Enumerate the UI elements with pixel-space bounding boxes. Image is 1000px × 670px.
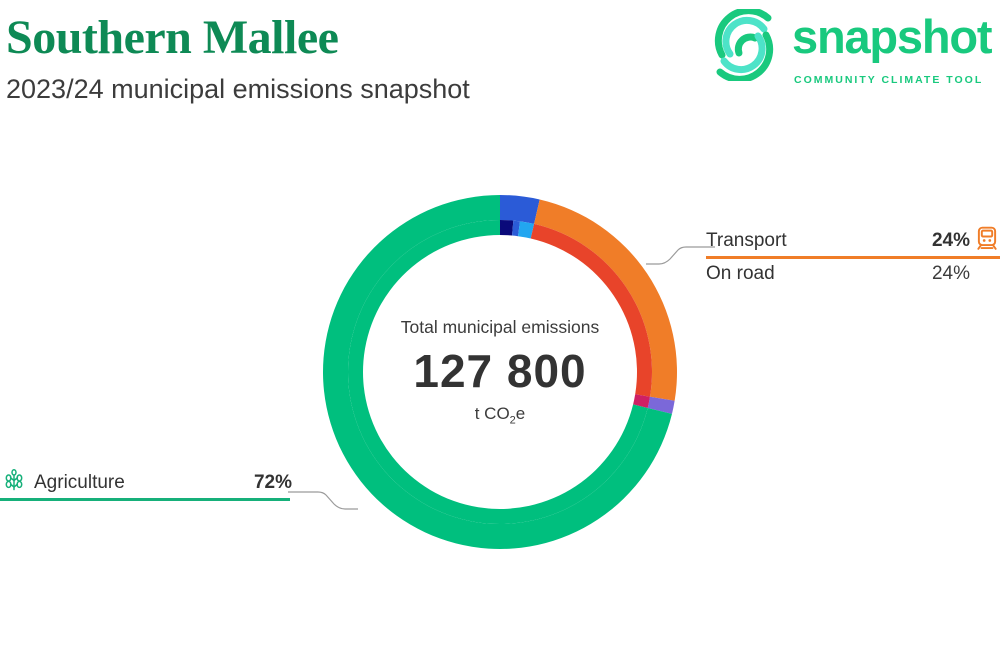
page-subtitle: 2023/24 municipal emissions snapshot (6, 72, 470, 106)
callout-transport-main-row: Transport 24% (706, 226, 1000, 256)
donut-slice[interactable] (534, 200, 677, 401)
callout-transport-sub-row: On road 24% (706, 259, 1000, 289)
logo-tagline: COMMUNITY CLIMATE TOOL (794, 74, 983, 86)
donut-slice[interactable] (500, 195, 540, 224)
callout-agriculture-main-row: Agriculture 72% (0, 468, 350, 498)
callout-transport[interactable]: Transport 24% On road 24% (706, 226, 1000, 289)
donut-svg (300, 172, 700, 572)
page-header: Southern Mallee 2023/24 municipal emissi… (0, 0, 1000, 120)
snapshot-page: Southern Mallee 2023/24 municipal emissi… (0, 0, 1000, 670)
logo-wordmark: snapshot (792, 10, 991, 64)
callout-agriculture-label: Agriculture (34, 468, 125, 498)
emissions-donut-chart: Total municipal emissions 127 800 t CO2e (300, 172, 700, 572)
callout-transport-sub-percent: 24% (932, 259, 970, 289)
snapshot-logo: snapshot COMMUNITY CLIMATE TOOL (708, 4, 1000, 86)
callout-agriculture-percent: 72% (254, 468, 292, 498)
page-title: Southern Mallee (6, 8, 338, 68)
spiral-s-icon (708, 9, 780, 81)
callout-agriculture-rule (0, 498, 290, 501)
callout-transport-percent: 24% (932, 226, 970, 256)
callout-agriculture[interactable]: Agriculture 72% (0, 468, 350, 501)
donut-slice[interactable] (500, 220, 513, 236)
wheat-icon (2, 469, 28, 495)
callout-transport-sub-label: On road (706, 259, 775, 289)
callout-transport-label: Transport (706, 226, 787, 256)
train-icon (974, 225, 1000, 251)
